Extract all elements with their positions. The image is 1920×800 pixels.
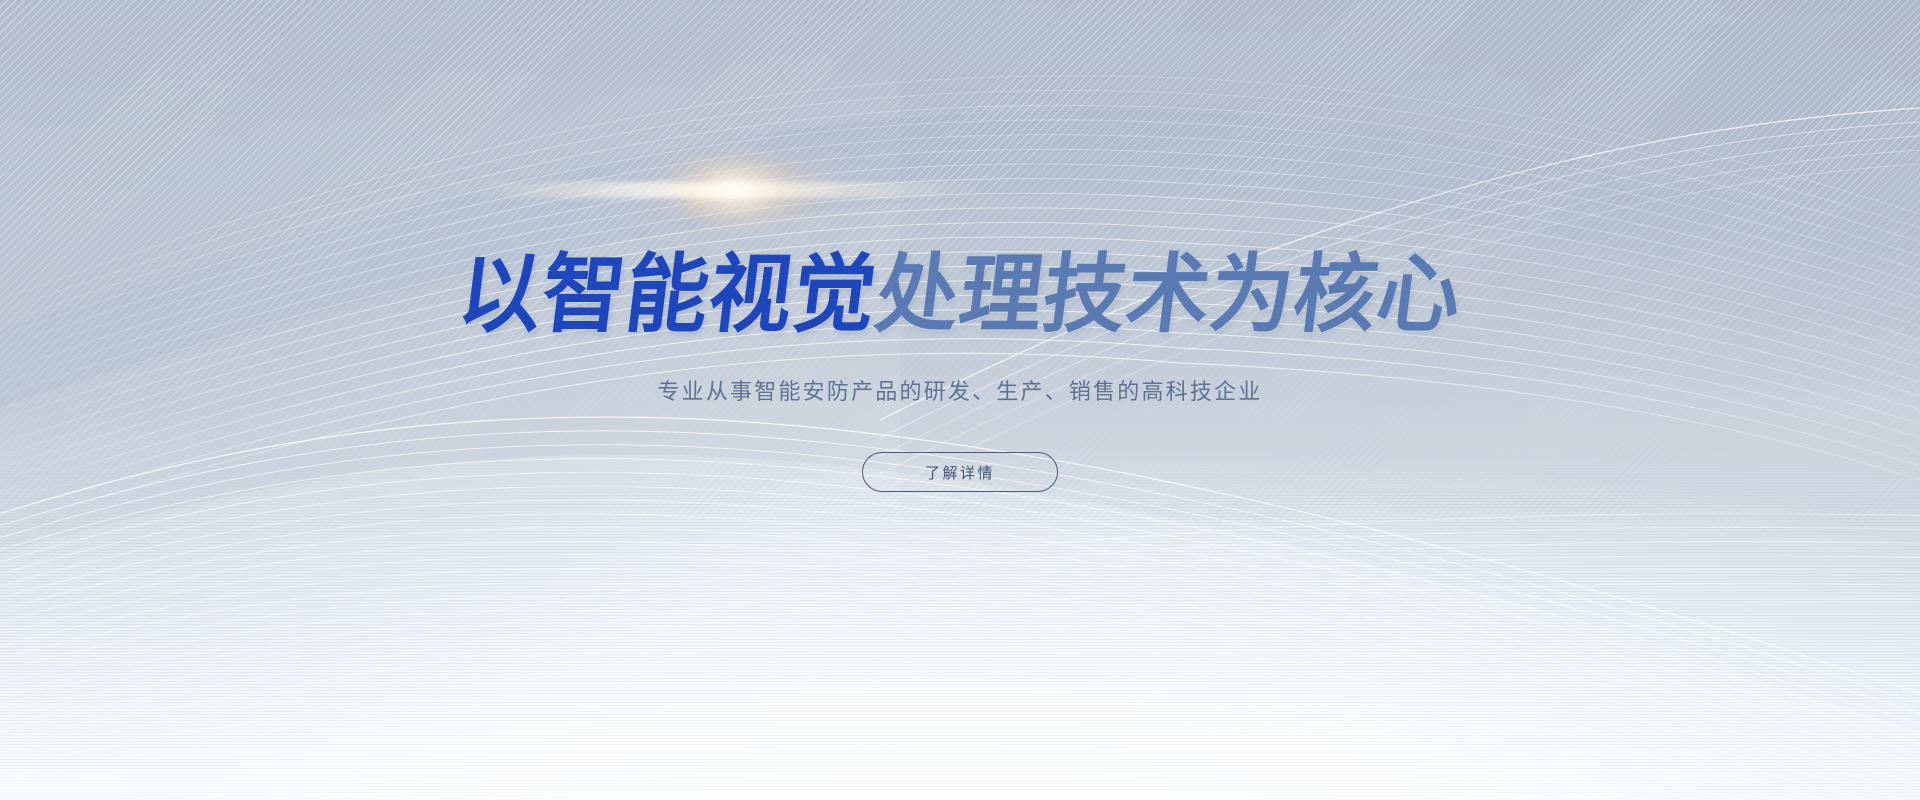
hero-subtitle: 专业从事智能安防产品的研发、生产、销售的高科技企业 — [657, 374, 1262, 406]
headline-segment-secondary: 处理技术为核心 — [871, 252, 1466, 338]
learn-more-button[interactable]: 了解详情 — [862, 452, 1058, 492]
cta-wrapper: 了解详情 — [862, 406, 1058, 492]
hero-banner: 以智能视觉处理技术为核心 专业从事智能安防产品的研发、生产、销售的高科技企业 了… — [0, 0, 1920, 800]
headline-segment-primary: 以智能视觉 — [454, 252, 882, 338]
page-title: 以智能视觉处理技术为核心 — [454, 252, 1467, 338]
